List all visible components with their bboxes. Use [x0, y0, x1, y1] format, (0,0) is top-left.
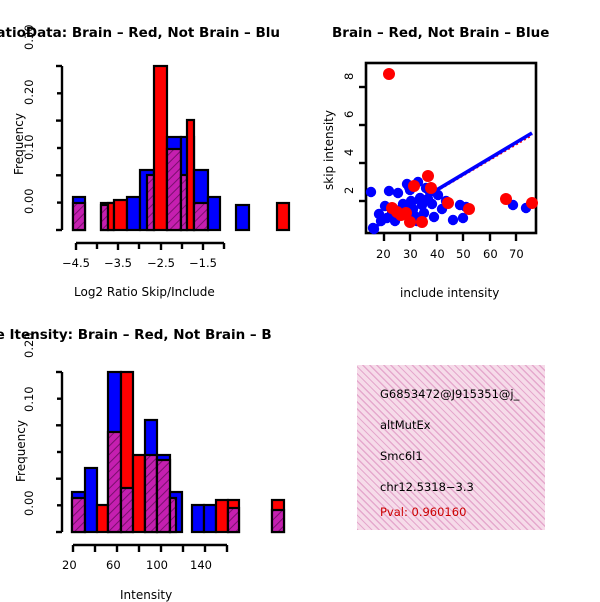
gene-info-panel: G6853472@J915351@j_ altMutEx Smc6l1 chr1…: [357, 365, 545, 530]
ratio-ytick-2: 0.10: [22, 134, 36, 160]
scatter-ytick-4: 4: [342, 149, 356, 156]
ratio-histogram-panel: RatioData: Brain – Red, Not Brain – Blu …: [0, 0, 300, 300]
info-line-event-type: altMutEx: [380, 418, 431, 432]
scatter-ytick-6: 6: [342, 111, 356, 118]
intensity-xtick-60: 60: [106, 558, 121, 572]
info-line-pval: Pval: 0.960160: [380, 505, 466, 519]
intensity-ytick-0: 0.20: [22, 332, 36, 358]
scatter-panel: Brain – Red, Not Brain – Blue skip inten…: [300, 0, 600, 300]
scatter-xtick-20: 20: [376, 247, 391, 261]
scatter-xtick-40: 40: [430, 247, 445, 261]
scatter-xtick-70: 70: [509, 247, 524, 261]
scatter-ytick-2: 2: [342, 187, 356, 194]
ratio-xlabel: Log2 Ratio Skip/Include: [74, 285, 215, 299]
intensity-ytick-2: 0.00: [22, 490, 36, 516]
intensity-xtick-100: 100: [146, 558, 168, 572]
intensity-histogram-panel: ne Itensity: Brain – Red, Not Brain – B …: [0, 300, 300, 600]
intensity-ytick-1: 0.10: [22, 386, 36, 412]
ratio-ytick-1: 0.20: [22, 79, 36, 105]
ratio-histogram-plot: [0, 0, 300, 300]
scatter-xtick-50: 50: [456, 247, 471, 261]
scatter-xlabel: include intensity: [400, 286, 499, 300]
scatter-xtick-60: 60: [483, 247, 498, 261]
ratio-ytick-3: 0.00: [22, 188, 36, 214]
ratio-ytick-0: 0.30: [22, 24, 36, 50]
intensity-xtick-20: 20: [62, 558, 77, 572]
ratio-xtick-0: −4.5: [62, 256, 90, 270]
info-line-locus: chr12.5318−3.3: [380, 480, 474, 494]
scatter-ytick-8: 8: [342, 73, 356, 80]
scatter-xtick-30: 30: [403, 247, 418, 261]
ratio-xtick-1: −3.5: [104, 256, 132, 270]
ratio-xtick-2: −2.5: [147, 256, 175, 270]
ratio-xtick-3: −1.5: [189, 256, 217, 270]
info-line-probe-id: G6853472@J915351@j_: [380, 387, 519, 401]
info-line-gene-symbol: Smc6l1: [380, 449, 423, 463]
intensity-xtick-140: 140: [190, 558, 212, 572]
intensity-histogram-plot: [0, 300, 300, 600]
